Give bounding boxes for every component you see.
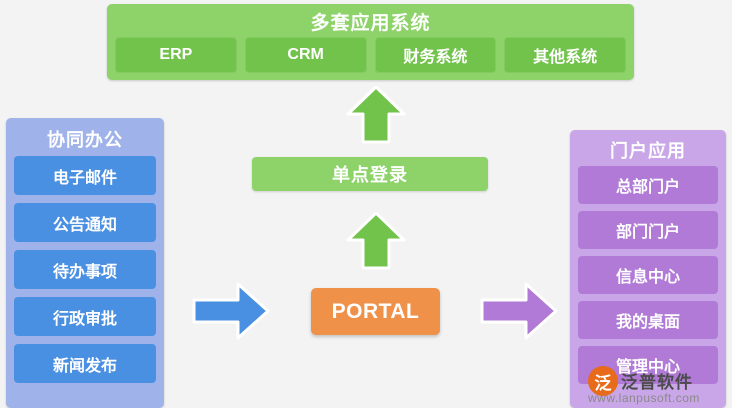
application-systems-item-list: ERP CRM 财务系统 其他系统 bbox=[115, 37, 626, 73]
portal-box[interactable]: PORTAL bbox=[311, 288, 440, 335]
office-item-email[interactable]: 电子邮件 bbox=[14, 156, 156, 195]
portal-item-my-desktop[interactable]: 我的桌面 bbox=[578, 301, 718, 339]
arrow-up-green-middle bbox=[346, 212, 406, 270]
panel-application-systems: 多套应用系统 ERP CRM 财务系统 其他系统 bbox=[107, 4, 634, 80]
panel-portal-applications: 门户应用 总部门户 部门门户 信息中心 我的桌面 管理中心 bbox=[570, 130, 726, 408]
portal-item-management-center[interactable]: 管理中心 bbox=[578, 346, 718, 384]
panel-application-systems-title: 多套应用系统 bbox=[107, 8, 634, 35]
app-system-item-finance[interactable]: 财务系统 bbox=[375, 37, 497, 73]
portal-item-info-center[interactable]: 信息中心 bbox=[578, 256, 718, 294]
office-item-announcement[interactable]: 公告通知 bbox=[14, 203, 156, 242]
portal-item-department[interactable]: 部门门户 bbox=[578, 211, 718, 249]
panel-collaborative-office: 协同办公 电子邮件 公告通知 待办事项 行政审批 新闻发布 bbox=[6, 118, 164, 408]
app-system-item-other[interactable]: 其他系统 bbox=[504, 37, 626, 73]
panel-portal-applications-title: 门户应用 bbox=[570, 137, 726, 163]
office-item-todo[interactable]: 待办事项 bbox=[14, 250, 156, 289]
office-item-news[interactable]: 新闻发布 bbox=[14, 344, 156, 383]
collaborative-office-item-list: 电子邮件 公告通知 待办事项 行政审批 新闻发布 bbox=[14, 156, 156, 383]
app-system-item-erp[interactable]: ERP bbox=[115, 37, 237, 73]
arrow-right-purple bbox=[480, 282, 558, 340]
app-system-item-crm[interactable]: CRM bbox=[245, 37, 367, 73]
office-item-approval[interactable]: 行政审批 bbox=[14, 297, 156, 336]
portal-item-headquarters[interactable]: 总部门户 bbox=[578, 166, 718, 204]
portal-application-item-list: 总部门户 部门门户 信息中心 我的桌面 管理中心 bbox=[578, 166, 718, 384]
arrow-right-blue bbox=[192, 282, 270, 340]
single-sign-on-box[interactable]: 单点登录 bbox=[252, 157, 488, 191]
arrow-up-green-top bbox=[346, 86, 406, 144]
panel-collaborative-office-title: 协同办公 bbox=[6, 126, 164, 152]
diagram-canvas: 多套应用系统 ERP CRM 财务系统 其他系统 协同办公 电子邮件 公告通知 … bbox=[0, 0, 732, 408]
